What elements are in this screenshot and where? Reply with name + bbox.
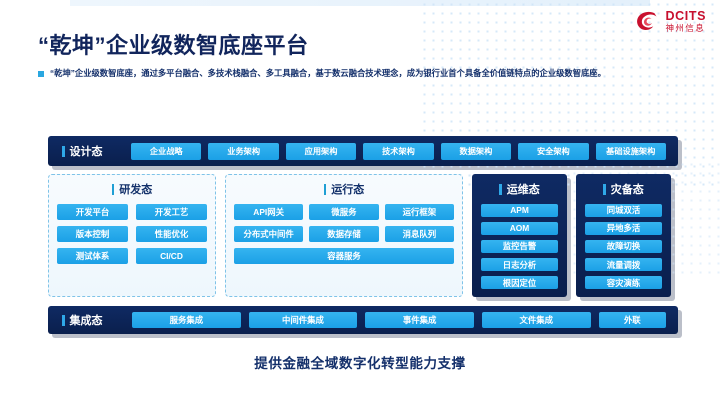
platform-architecture-diagram: 设计态 企业战略 业务架构 应用架构 技术架构 数据架构 安全架构 基础设施架构… — [48, 136, 678, 336]
ops-chip-4[interactable]: 根因定位 — [481, 276, 558, 289]
label-tick-icon — [499, 184, 502, 195]
design-chip-1[interactable]: 业务架构 — [208, 143, 278, 160]
design-chip-3[interactable]: 技术架构 — [363, 143, 433, 160]
label-tick-icon — [112, 184, 115, 195]
runtime-chip-container-service[interactable]: 容器服务 — [234, 248, 454, 264]
dr-chip-3[interactable]: 流量调拨 — [585, 258, 662, 271]
design-chip-4[interactable]: 数据架构 — [441, 143, 511, 160]
integration-layer-row: 集成态 服务集成 中间件集成 事件集成 文件集成 外联 — [48, 306, 678, 334]
dev-chip-2[interactable]: 版本控制 — [57, 226, 128, 242]
integration-chip-0[interactable]: 服务集成 — [132, 312, 241, 328]
middle-band: 研发态 开发平台 开发工艺 版本控制 性能优化 测试体系 CI/CD 运行态 A… — [48, 174, 678, 297]
subtitle-text: “乾坤”企业级数智底座，通过多平台融合、多技术栈融合、多工具融合，基于数云融合技… — [50, 67, 606, 79]
design-chip-5[interactable]: 安全架构 — [518, 143, 588, 160]
dev-chip-3[interactable]: 性能优化 — [136, 226, 207, 242]
dev-chip-5[interactable]: CI/CD — [136, 248, 207, 264]
integration-layer-label: 集成态 — [70, 312, 103, 328]
subtitle-row: “乾坤”企业级数智底座，通过多平台融合、多技术栈融合、多工具融合，基于数云融合技… — [38, 67, 680, 79]
page-title: “乾坤”企业级数智底座平台 — [38, 28, 309, 60]
dev-panel-label-group: 研发态 — [57, 181, 207, 197]
runtime-chip-3[interactable]: 分布式中间件 — [234, 226, 303, 242]
dr-chip-2[interactable]: 故障切换 — [585, 240, 662, 253]
label-tick-icon — [62, 315, 65, 326]
top-accent-band — [70, 0, 650, 6]
disaster-recovery-panel: 灾备态 同城双活 异地多活 故障切换 流量调拨 容灾演练 — [576, 174, 671, 297]
ops-chip-2[interactable]: 监控告警 — [481, 240, 558, 253]
dev-chip-grid: 开发平台 开发工艺 版本控制 性能优化 测试体系 CI/CD — [57, 204, 207, 264]
runtime-chip-1[interactable]: 微服务 — [309, 204, 378, 220]
logo-text-cn: 神州信息 — [666, 24, 707, 33]
dev-panel: 研发态 开发平台 开发工艺 版本控制 性能优化 测试体系 CI/CD — [48, 174, 216, 297]
label-tick-icon — [62, 146, 65, 157]
design-layer-label-group: 设计态 — [62, 143, 124, 159]
integration-chip-1[interactable]: 中间件集成 — [249, 312, 358, 328]
label-tick-icon — [603, 184, 606, 195]
ops-panel-label: 运维态 — [507, 181, 540, 197]
dev-panel-label: 研发态 — [119, 181, 152, 197]
runtime-chip-0[interactable]: API网关 — [234, 204, 303, 220]
swirl-logo-icon — [635, 9, 661, 33]
runtime-chip-5[interactable]: 消息队列 — [385, 226, 454, 242]
runtime-panel: 运行态 API网关 微服务 运行框架 分布式中间件 数据存储 消息队列 容器服务 — [225, 174, 463, 297]
dr-chip-4[interactable]: 容灾演练 — [585, 276, 662, 289]
design-chip-0[interactable]: 企业战略 — [131, 143, 201, 160]
label-tick-icon — [324, 184, 327, 195]
runtime-panel-label: 运行态 — [331, 181, 364, 197]
ops-panel: 运维态 APM AOM 监控告警 日志分析 根因定位 — [472, 174, 567, 297]
dr-chip-0[interactable]: 同城双活 — [585, 204, 662, 217]
integration-chip-4[interactable]: 外联 — [599, 312, 666, 328]
dr-panel-label-group: 灾备态 — [585, 181, 662, 197]
design-chip-6[interactable]: 基础设施架构 — [596, 143, 666, 160]
integration-layer-label-group: 集成态 — [62, 312, 124, 328]
integration-chip-2[interactable]: 事件集成 — [365, 312, 474, 328]
integration-chip-3[interactable]: 文件集成 — [482, 312, 591, 328]
logo-text-en: DCITS — [666, 10, 707, 23]
design-layer-row: 设计态 企业战略 业务架构 应用架构 技术架构 数据架构 安全架构 基础设施架构 — [48, 136, 678, 166]
runtime-chip-grid: API网关 微服务 运行框架 分布式中间件 数据存储 消息队列 — [234, 204, 454, 242]
ops-chip-3[interactable]: 日志分析 — [481, 258, 558, 271]
runtime-panel-label-group: 运行态 — [234, 181, 454, 197]
dr-panel-label: 灾备态 — [611, 181, 644, 197]
dr-chip-1[interactable]: 异地多活 — [585, 222, 662, 235]
brand-logo: DCITS 神州信息 — [635, 9, 707, 33]
dev-chip-1[interactable]: 开发工艺 — [136, 204, 207, 220]
dev-chip-0[interactable]: 开发平台 — [57, 204, 128, 220]
ops-panel-label-group: 运维态 — [481, 181, 558, 197]
runtime-chip-4[interactable]: 数据存储 — [309, 226, 378, 242]
ops-chip-0[interactable]: APM — [481, 204, 558, 217]
runtime-chip-2[interactable]: 运行框架 — [385, 204, 454, 220]
footer-tagline: 提供金融全域数字化转型能力支撑 — [0, 352, 720, 372]
ops-chip-1[interactable]: AOM — [481, 222, 558, 235]
dev-chip-4[interactable]: 测试体系 — [57, 248, 128, 264]
design-chip-2[interactable]: 应用架构 — [286, 143, 356, 160]
square-bullet-icon — [38, 71, 44, 77]
design-layer-label: 设计态 — [70, 143, 103, 159]
